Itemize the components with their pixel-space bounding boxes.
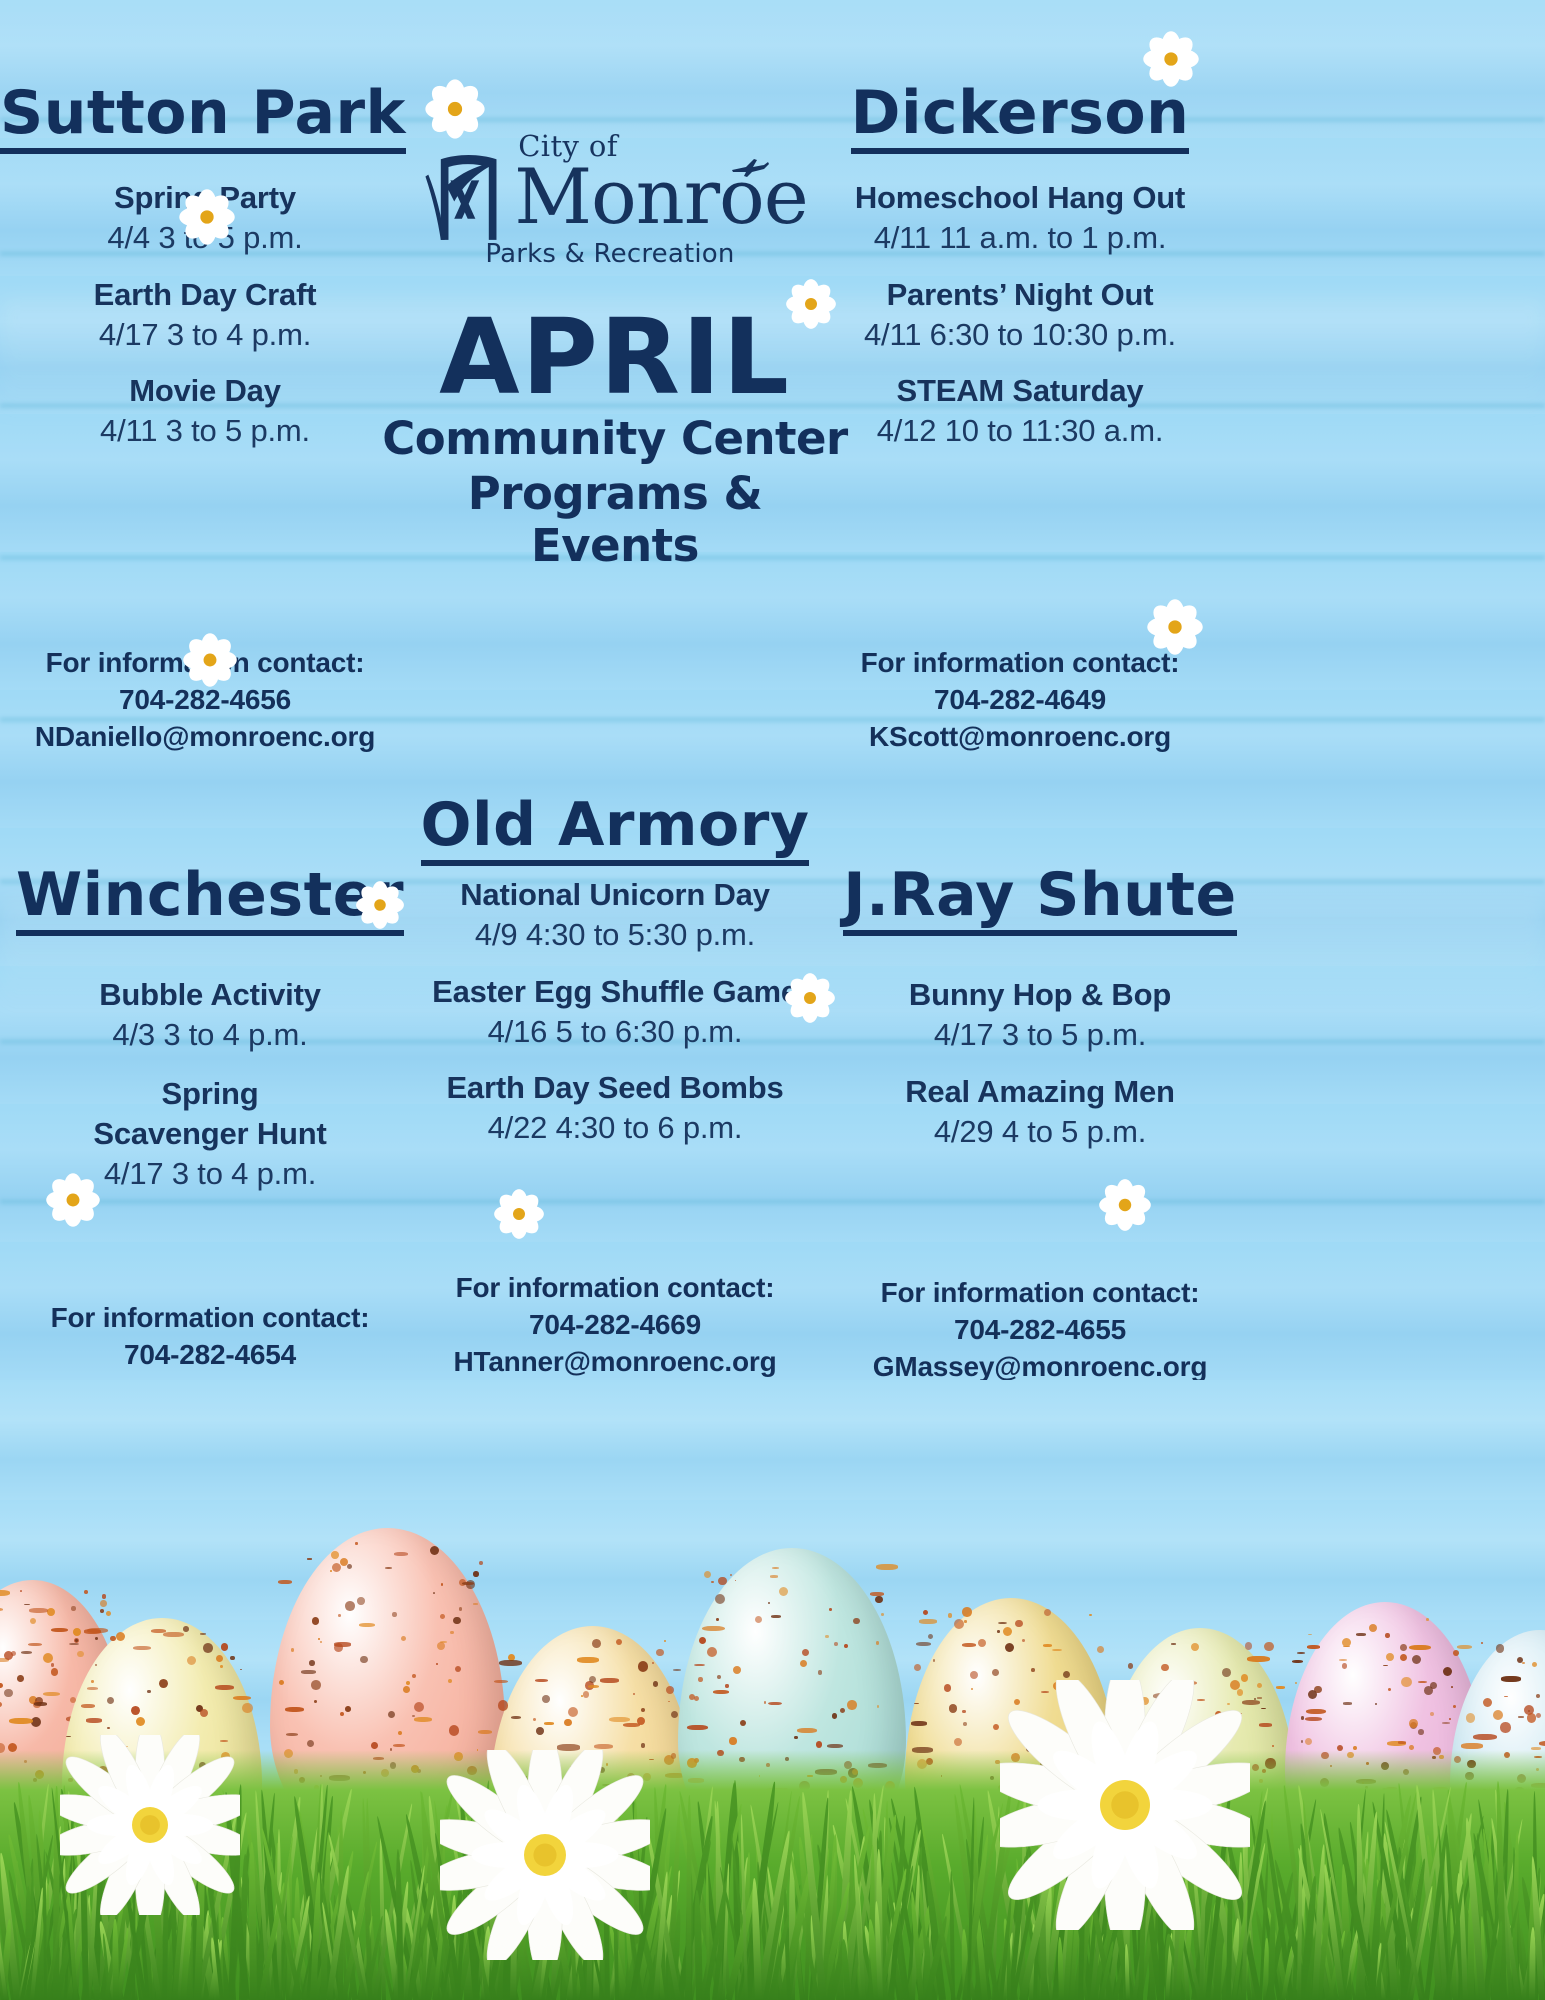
- event-item: Movie Day 4/11 3 to 5 p.m.: [20, 371, 390, 452]
- event-item: Earth Day Seed Bombs 4/22 4:30 to 6 p.m.: [390, 1068, 840, 1149]
- contact-email[interactable]: NDaniello@monroenc.org: [20, 719, 390, 756]
- contact-block-sutton-park: For information contact: 704-282-4656 ND…: [20, 645, 390, 756]
- month-title: APRIL: [380, 305, 850, 409]
- contact-label: For information contact:: [810, 645, 1230, 682]
- contact-phone[interactable]: 704-282-4655: [830, 1312, 1250, 1349]
- event-item: Bunny Hop & Bop 4/17 3 to 5 p.m.: [830, 975, 1250, 1056]
- contact-phone[interactable]: 704-282-4649: [810, 682, 1230, 719]
- monroe-parks-rec-logo: City of Monroe Parks & Recreation: [430, 130, 790, 269]
- event-item: Bubble Activity 4/3 3 to 4 p.m.: [20, 975, 400, 1056]
- white-chrysanthemum-flower: [60, 1735, 240, 1920]
- venue-events-winchester: Bubble Activity 4/3 3 to 4 p.m. Spring S…: [20, 975, 400, 1198]
- venue-heading-jray-shute: J.Ray Shute: [830, 860, 1250, 936]
- contact-email[interactable]: HTanner@monroenc.org: [395, 1344, 835, 1381]
- logo-monroe-wordmark: Monroe: [514, 161, 808, 232]
- event-item: National Unicorn Day 4/9 4:30 to 5:30 p.…: [390, 875, 840, 956]
- event-item: Easter Egg Shuffle Game 4/16 5 to 6:30 p…: [390, 972, 840, 1053]
- venue-events-sutton-park: Spring Party 4/4 3 to 5 p.m. Earth Day C…: [20, 178, 390, 456]
- white-chrysanthemum-flower: [440, 1750, 650, 1965]
- event-item: Parents’ Night Out 4/11 6:30 to 10:30 p.…: [810, 275, 1230, 356]
- plank-seam: [0, 1200, 1545, 1205]
- easter-eggs-photo: [0, 1380, 1545, 2000]
- contact-block-dickerson: For information contact: 704-282-4649 KS…: [810, 645, 1230, 756]
- contact-email[interactable]: KScott@monroenc.org: [810, 719, 1230, 756]
- contact-phone[interactable]: 704-282-4669: [395, 1307, 835, 1344]
- logo-department: Parks & Recreation: [430, 240, 790, 269]
- subtitle-line-1: Community Center: [380, 413, 850, 464]
- contact-block-jray-shute: For information contact: 704-282-4655 GM…: [830, 1275, 1250, 1386]
- contact-phone[interactable]: 704-282-4656: [20, 682, 390, 719]
- venue-heading-winchester: Winchester: [0, 860, 420, 936]
- event-item: Spring Party 4/4 3 to 5 p.m.: [20, 178, 390, 259]
- contact-label: For information contact:: [830, 1275, 1250, 1312]
- subtitle-line-2: Programs & Events: [380, 468, 850, 571]
- contact-block-old-armory: For information contact: 704-282-4669 HT…: [395, 1270, 835, 1381]
- contact-label: For information contact:: [20, 645, 390, 682]
- venue-events-jray-shute: Bunny Hop & Bop 4/17 3 to 5 p.m. Real Am…: [830, 975, 1250, 1156]
- monroe-m-bridge-logo: [412, 138, 508, 242]
- venue-events-dickerson: Homeschool Hang Out 4/11 11 a.m. to 1 p.…: [810, 178, 1230, 456]
- event-item: Real Amazing Men 4/29 4 to 5 p.m.: [830, 1072, 1250, 1153]
- event-item: Homeschool Hang Out 4/11 11 a.m. to 1 p.…: [810, 178, 1230, 259]
- flyer-canvas: City of Monroe Parks & Recreation APRIL …: [0, 0, 1545, 2000]
- white-chrysanthemum-flower: [1000, 1680, 1250, 1935]
- venue-heading-sutton-park: Sutton Park: [0, 78, 400, 154]
- event-item: Spring Scavenger Hunt 4/17 3 to 4 p.m.: [20, 1074, 400, 1195]
- event-item: Earth Day Craft 4/17 3 to 4 p.m.: [20, 275, 390, 356]
- event-item: STEAM Saturday 4/12 10 to 11:30 a.m.: [810, 371, 1230, 452]
- contact-phone[interactable]: 704-282-4654: [20, 1337, 400, 1374]
- venue-heading-dickerson: Dickerson: [820, 78, 1220, 154]
- contact-label: For information contact:: [20, 1300, 400, 1337]
- venue-events-old-armory: National Unicorn Day 4/9 4:30 to 5:30 p.…: [390, 875, 840, 1153]
- title-block: APRIL Community Center Programs & Events: [380, 305, 850, 571]
- contact-label: For information contact:: [395, 1270, 835, 1307]
- venue-heading-old-armory: Old Armory: [390, 790, 840, 866]
